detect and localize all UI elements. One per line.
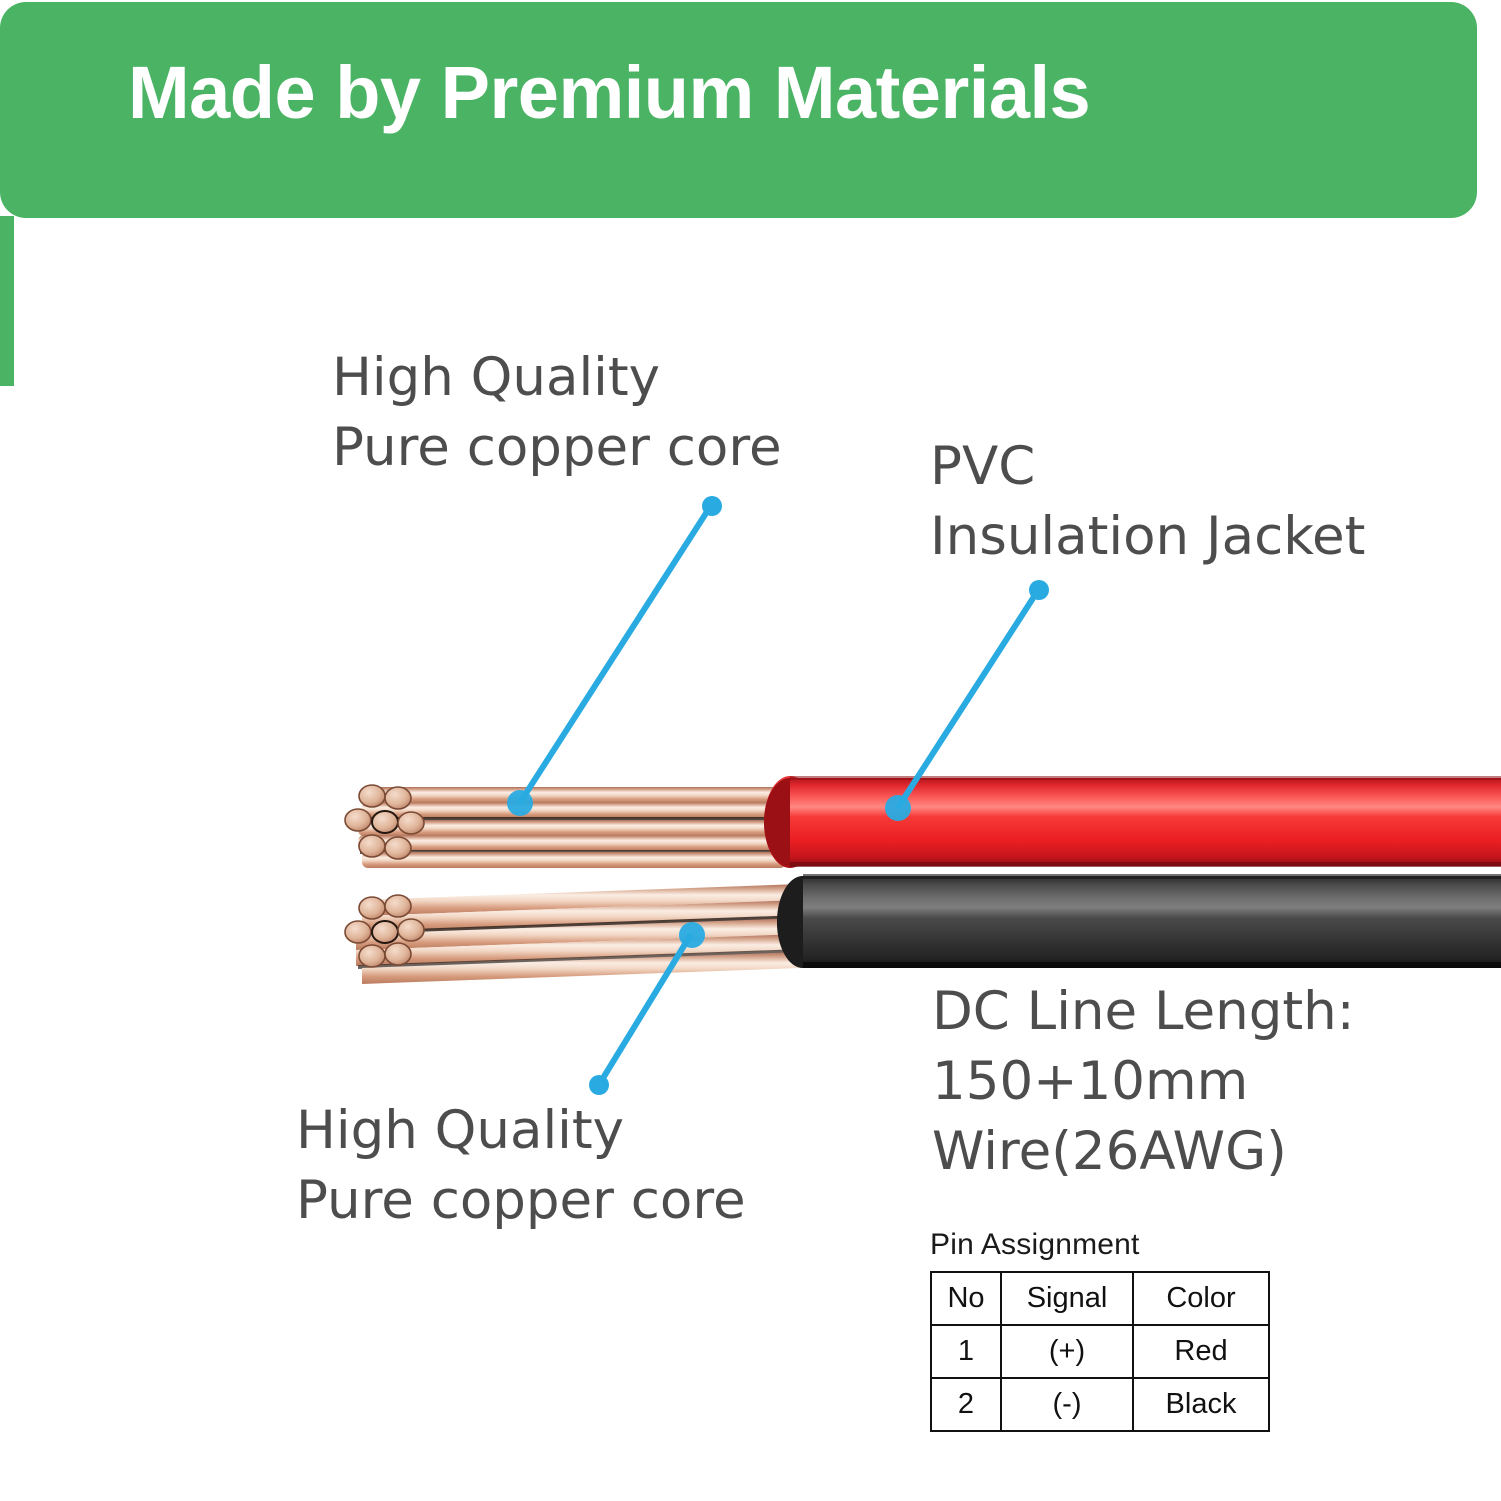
header-cell-color: Color: [1133, 1272, 1269, 1325]
header-cell-signal: Signal: [1001, 1272, 1133, 1325]
callout-label-pvc: PVC Insulation Jacket: [930, 432, 1365, 572]
pvc-jacket-red-body: [764, 776, 1501, 867]
pin-assignment-block: Pin Assignment No Signal Color 1 (+) Red…: [930, 1228, 1270, 1432]
header-cell-no: No: [931, 1272, 1001, 1325]
cell-pin-color: Black: [1133, 1378, 1269, 1431]
infographic-canvas: Made by Premium Materials: [0, 0, 1501, 1501]
cell-pin-no: 2: [931, 1378, 1001, 1431]
pin-assignment-caption: Pin Assignment: [930, 1228, 1270, 1262]
cell-pin-signal: (-): [1001, 1378, 1133, 1431]
table-row: 2 (-) Black: [931, 1378, 1269, 1431]
table-header-row: No Signal Color: [931, 1272, 1269, 1325]
cable-illustration: [0, 0, 1501, 1501]
spec-dc-line-length: DC Line Length: 150+10mm Wire(26AWG): [932, 977, 1355, 1187]
pvc-jacket-black-body: [777, 874, 1501, 968]
callout-label-copper-bottom: High Quality Pure copper core: [296, 1096, 746, 1236]
cell-pin-color: Red: [1133, 1325, 1269, 1378]
cell-pin-no: 1: [931, 1325, 1001, 1378]
positive-wire-group: [345, 776, 1501, 868]
cell-pin-signal: (+): [1001, 1325, 1133, 1378]
callout-label-copper-top: High Quality Pure copper core: [332, 343, 782, 483]
table-row: 1 (+) Red: [931, 1325, 1269, 1378]
negative-wire-group: [345, 874, 1501, 984]
pin-assignment-table: No Signal Color 1 (+) Red 2 (-) Black: [930, 1271, 1270, 1432]
callout-leader-copper-top: [507, 496, 722, 816]
